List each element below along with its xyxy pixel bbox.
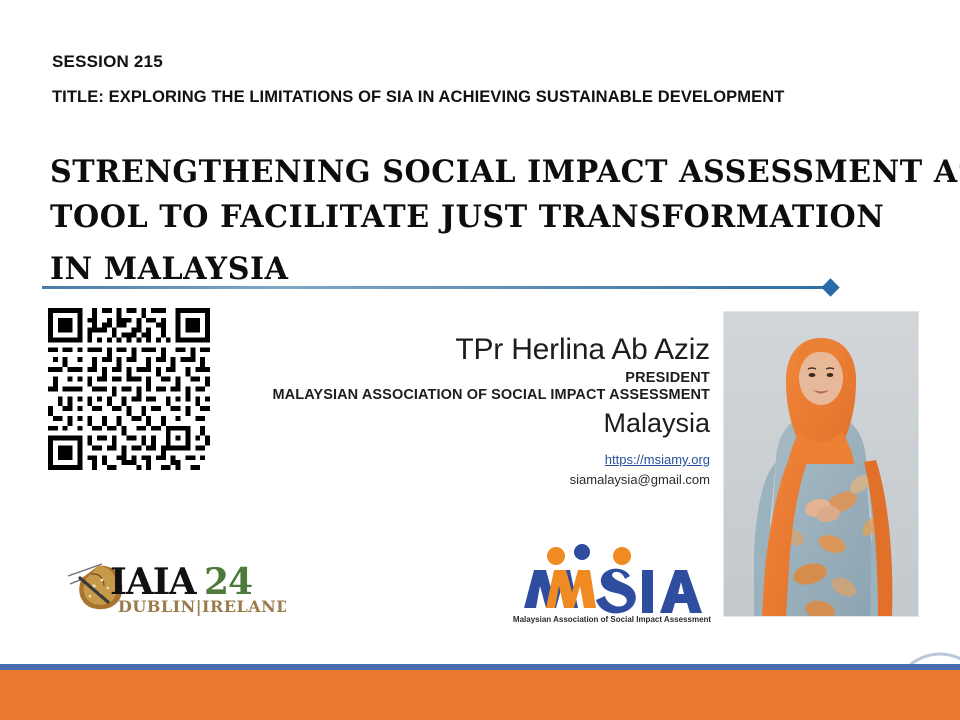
- title-divider: [42, 281, 842, 295]
- speaker-info: TPr Herlina Ab Aziz PRESIDENT MALAYSIAN …: [258, 332, 710, 487]
- speaker-portrait-image: [724, 312, 918, 616]
- qr-code-icon[interactable]: [48, 308, 210, 470]
- page-title: STRENGTHENING SOCIAL IMPACT ASSESSMENT A…: [50, 150, 923, 292]
- msia-tagline: Malaysian Association of Social Impact A…: [513, 615, 711, 624]
- title-line-2: TOOL TO FACILITATE JUST TRANSFORMATION: [50, 195, 923, 240]
- presentation-slide: SESSION 215 TITLE: EXPLORING THE LIMITAT…: [0, 0, 960, 720]
- speaker-organization: MALAYSIAN ASSOCIATION OF SOCIAL IMPACT A…: [258, 387, 710, 403]
- diamond-marker-icon: [821, 278, 839, 296]
- title-line-1: STRENGTHENING SOCIAL IMPACT ASSESSMENT A…: [50, 150, 923, 195]
- speaker-name: TPr Herlina Ab Aziz: [258, 332, 710, 368]
- divider-line: [42, 286, 832, 289]
- speaker-website-link[interactable]: https://msiamy.org: [258, 452, 710, 467]
- speaker-role: PRESIDENT: [258, 370, 710, 386]
- speaker-country: Malaysia: [258, 407, 710, 440]
- session-title: TITLE: EXPLORING THE LIMITATIONS OF SIA …: [52, 88, 784, 107]
- iaia-logo: IAIA 24 DUBLIN|IRELAND: [58, 550, 286, 622]
- speaker-email[interactable]: siamalaysia@gmail.com: [258, 472, 710, 487]
- svg-text:DUBLIN|IRELAND: DUBLIN|IRELAND: [118, 597, 286, 616]
- msia-logo: Malaysian Association of Social Impact A…: [512, 542, 712, 624]
- bottom-orange-band: [0, 670, 960, 720]
- session-label: SESSION 215: [52, 52, 163, 72]
